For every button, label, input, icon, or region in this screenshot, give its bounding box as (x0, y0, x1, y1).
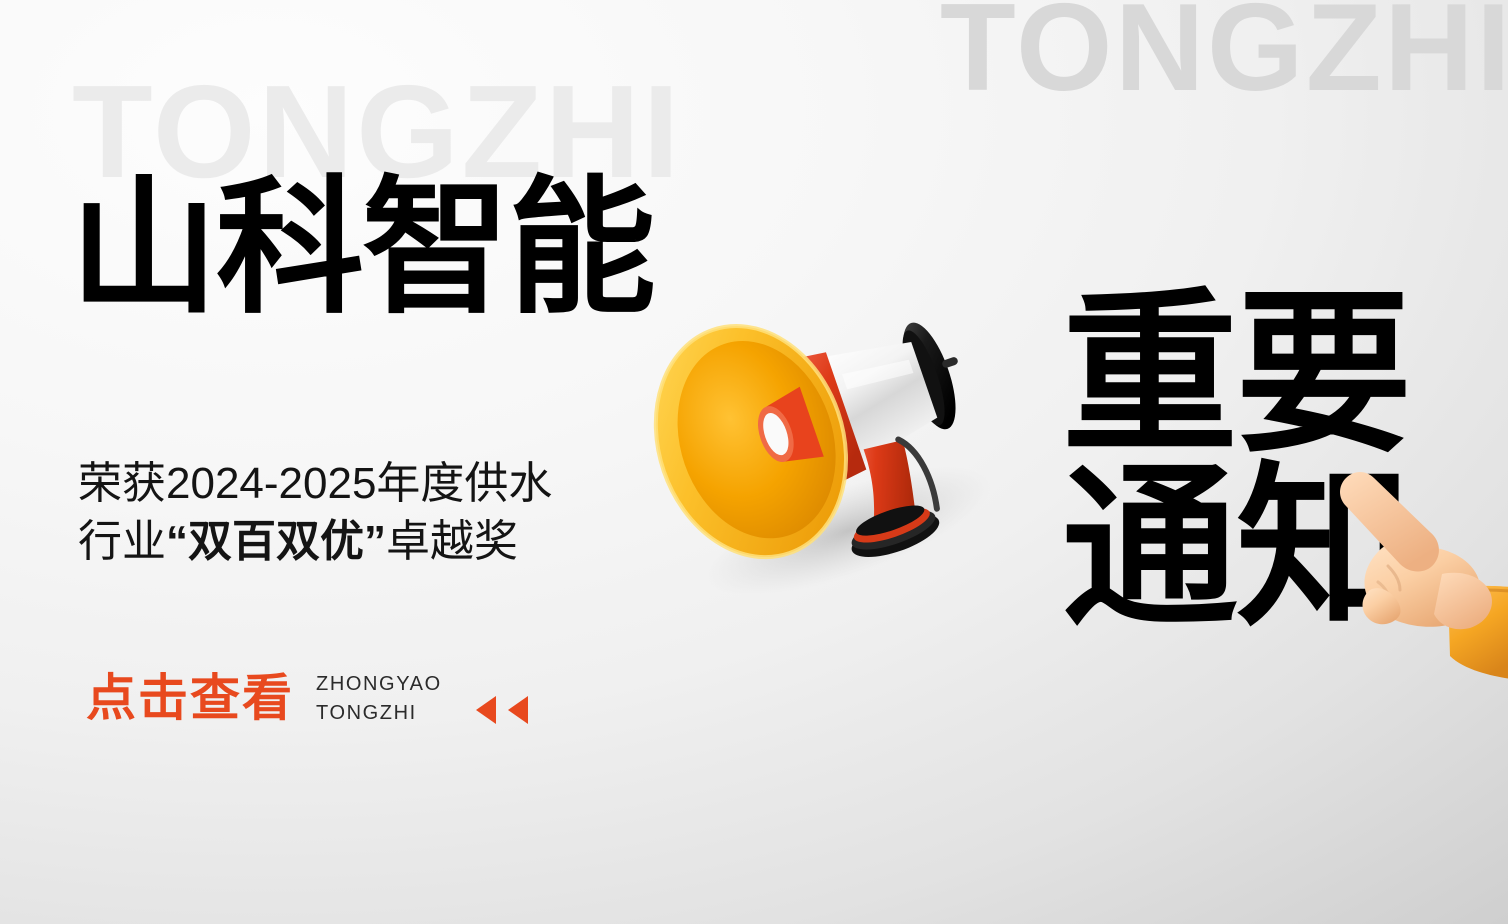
notice-headline-line-1: 重要 (1062, 288, 1410, 462)
triangle-left-icon (508, 696, 528, 724)
promo-banner: TONGZHI TONGZHI (0, 0, 1508, 924)
triangle-left-icon (476, 696, 496, 724)
cta-group[interactable]: 点击查看 ZHONGYAO TONGZHI (86, 668, 528, 728)
arrow-group (476, 672, 528, 724)
subtitle-award-name: “双百双优” (166, 517, 386, 566)
notice-headline-line-2: 通知 (1062, 462, 1410, 636)
subtitle-line-2: 行业“双百双优”卓越奖 (78, 513, 552, 571)
cta-pinyin: ZHONGYAO TONGZHI (316, 668, 442, 728)
subtitle-line-2-prefix: 行业 (78, 517, 166, 566)
subtitle-line-1: 荣获2024-2025年度供水 (78, 455, 552, 513)
notice-headline: 重要 通知 (1062, 288, 1410, 636)
subtitle: 荣获2024-2025年度供水 行业“双百双优”卓越奖 (78, 455, 552, 571)
background-watermark-top: TONGZHI (940, 0, 1508, 110)
cta-pinyin-line-1: ZHONGYAO (316, 670, 442, 699)
megaphone-illustration (620, 270, 1000, 600)
page-title: 山科智能 (70, 175, 654, 323)
view-details-button[interactable]: 点击查看 (86, 673, 294, 723)
cta-pinyin-line-2: TONGZHI (316, 699, 442, 728)
subtitle-line-2-suffix: 卓越奖 (386, 517, 518, 566)
